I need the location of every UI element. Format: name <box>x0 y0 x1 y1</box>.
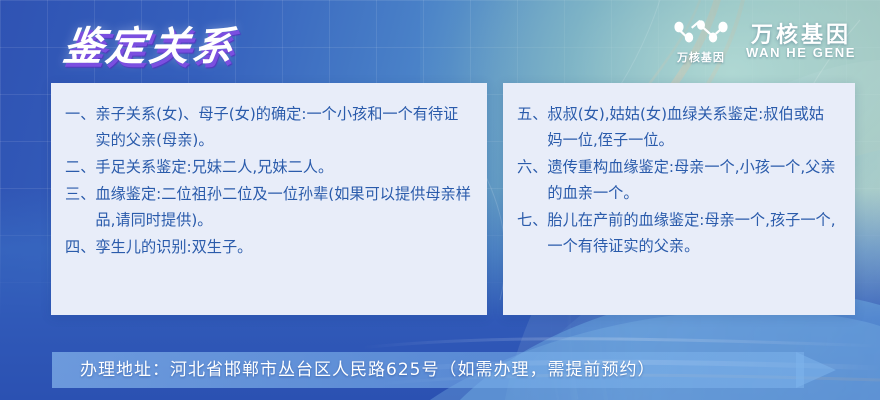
list-item: 六、 遗传重构血缘鉴定:母亲一个,小孩一个,父亲的血亲一个。 <box>517 154 839 206</box>
address-bar: 办理地址：河北省邯郸市丛台区人民路625号（如需办理，需提前预约） <box>52 352 836 388</box>
list-item-text: 孪生儿的识别:双生子。 <box>95 234 471 260</box>
list-item-number: 五、 <box>517 101 547 153</box>
list-item-text: 血缘鉴定:二位祖孙二位及一位孙辈(如果可以提供母亲样品,请同时提供)。 <box>95 181 471 233</box>
poster-root: 鉴定关系 万核基因 <box>0 0 880 400</box>
brand-mark: 万核基因 <box>672 18 730 65</box>
address-bar-arrow <box>796 352 836 388</box>
list-item-text: 亲子关系(女)、母子(女)的确定:一个小孩和一个有待证实的父亲(母亲)。 <box>95 101 471 153</box>
list-item-text: 手足关系鉴定:兄妹二人,兄妹二人。 <box>95 154 471 180</box>
list-item: 四、 孪生儿的识别:双生子。 <box>65 234 471 260</box>
brand-text: 万核基因 WAN HE GENE <box>746 23 856 61</box>
panel-right: 五、 叔叔(女),姑姑(女)血绿关系鉴定:叔伯或姑妈一位,侄子一位。 六、 遗传… <box>503 83 855 315</box>
page-title: 鉴定关系 <box>60 14 240 72</box>
dna-molecule-icon <box>672 18 730 46</box>
content-panels: 一、 亲子关系(女)、母子(女)的确定:一个小孩和一个有待证实的父亲(母亲)。 … <box>51 83 855 315</box>
poster-header: 鉴定关系 万核基因 <box>0 0 880 82</box>
brand-name-cn: 万核基因 <box>751 23 851 47</box>
list-item: 二、 手足关系鉴定:兄妹二人,兄妹二人。 <box>65 154 471 180</box>
list-item-text: 遗传重构血缘鉴定:母亲一个,小孩一个,父亲的血亲一个。 <box>547 154 839 206</box>
list-item-number: 一、 <box>65 101 95 153</box>
list-item-number: 三、 <box>65 181 95 233</box>
list-item: 一、 亲子关系(女)、母子(女)的确定:一个小孩和一个有待证实的父亲(母亲)。 <box>65 101 471 153</box>
brand-mark-label: 万核基因 <box>677 49 725 65</box>
list-item-number: 七、 <box>517 207 547 259</box>
list-item-number: 二、 <box>65 154 95 180</box>
list-item-text: 胎儿在产前的血缘鉴定:母亲一个,孩子一个,一个有待证实的父亲。 <box>547 207 839 259</box>
brand-name-en: WAN HE GENE <box>746 46 856 60</box>
panel-left: 一、 亲子关系(女)、母子(女)的确定:一个小孩和一个有待证实的父亲(母亲)。 … <box>51 83 487 315</box>
list-item: 五、 叔叔(女),姑姑(女)血绿关系鉴定:叔伯或姑妈一位,侄子一位。 <box>517 101 839 153</box>
list-item: 三、 血缘鉴定:二位祖孙二位及一位孙辈(如果可以提供母亲样品,请同时提供)。 <box>65 181 471 233</box>
list-item: 七、 胎儿在产前的血缘鉴定:母亲一个,孩子一个,一个有待证实的父亲。 <box>517 207 839 259</box>
address-text: 办理地址：河北省邯郸市丛台区人民路625号（如需办理，需提前预约） <box>80 352 655 388</box>
list-item-number: 四、 <box>65 234 95 260</box>
list-item-number: 六、 <box>517 154 547 206</box>
brand-logo: 万核基因 万核基因 WAN HE GENE <box>672 18 856 65</box>
list-item-text: 叔叔(女),姑姑(女)血绿关系鉴定:叔伯或姑妈一位,侄子一位。 <box>547 101 839 153</box>
